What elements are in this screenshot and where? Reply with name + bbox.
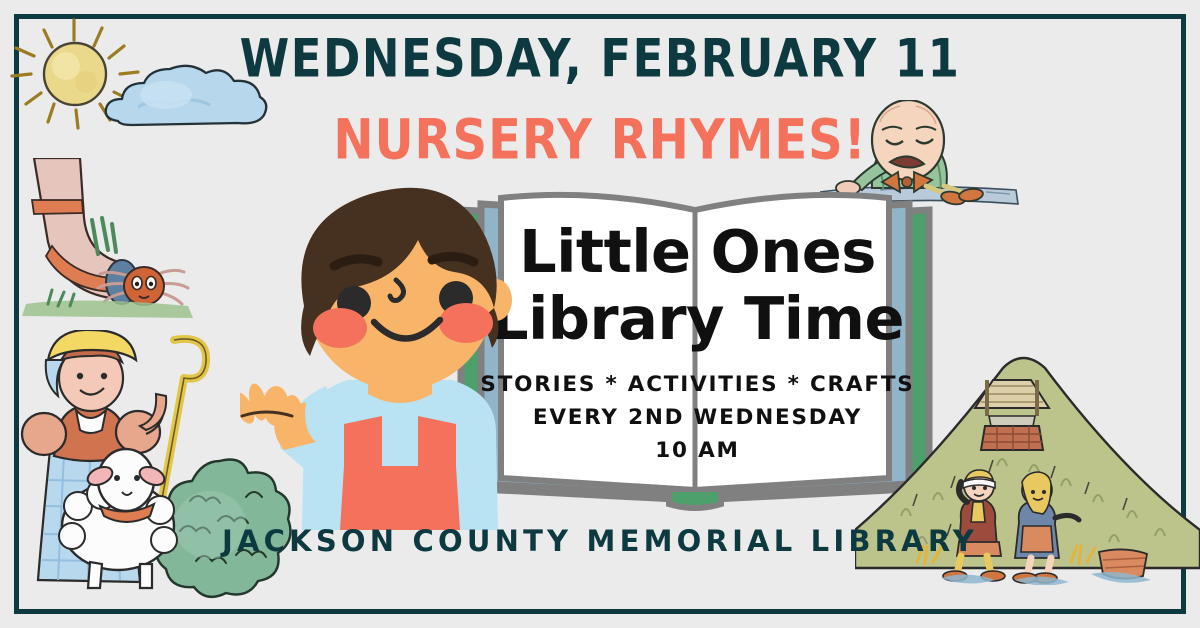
- event-theme-subheadline: NURSERY RHYMES!: [0, 108, 1200, 172]
- child-illustration: [240, 180, 560, 530]
- poster-canvas: Little Ones Library Time STORIES * ACTIV…: [0, 0, 1200, 628]
- itsy-bitsy-spider-illustration: [18, 158, 198, 323]
- library-name-footer: JACKSON COUNTY MEMORIAL LIBRARY: [0, 524, 1200, 558]
- event-date-headline: WEDNESDAY, FEBRUARY 11: [0, 28, 1200, 89]
